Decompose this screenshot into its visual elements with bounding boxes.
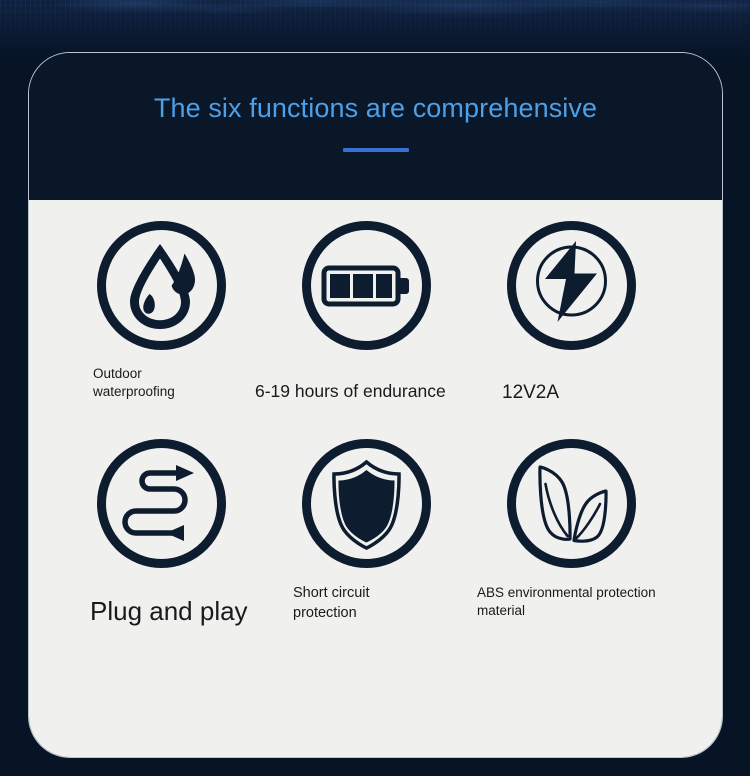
feature-label: 12V2A [502,380,672,406]
feature-row-2: Plug and play S [29,436,722,651]
feature-label: 6-19 hours of endurance [255,380,515,404]
background-texture [0,0,750,60]
feature-label-line2: waterproofing [93,383,263,401]
feature-label: Outdoor waterproofing [93,365,263,401]
feature-item-abs-material[interactable]: ABS environmental protection material [479,436,679,651]
leaves-icon [504,436,639,571]
feature-label-line1: 6-19 hours of endurance [255,380,515,404]
feature-item-outdoor-waterproofing[interactable]: Outdoor waterproofing [79,218,279,433]
lightning-bolt-icon [504,218,639,353]
feature-item-voltage-current[interactable]: 12V2A [479,218,679,433]
feature-label: ABS environmental protection material [477,584,702,620]
page-root: The six functions are comprehensive [0,0,750,776]
feature-item-endurance[interactable]: 6-19 hours of endurance [281,218,481,433]
feature-label: Short circuit protection [293,584,443,623]
feature-label-line2: material [477,602,702,620]
card-body: Outdoor waterproofing [29,200,722,758]
card-header: The six functions are comprehensive [29,53,722,200]
feature-label-line1: 12V2A [502,380,672,406]
page-title: The six functions are comprehensive [154,95,597,122]
feature-item-short-circuit-protection[interactable]: Short circuit protection [281,436,481,651]
battery-icon [299,218,434,353]
title-underline-accent [343,148,409,152]
shield-icon [299,436,434,571]
feature-label-line1: Outdoor [93,365,263,383]
water-drop-icon [94,218,229,353]
feature-label-line1: Short circuit [293,584,443,604]
feature-item-plug-and-play[interactable]: Plug and play [79,436,279,651]
feature-label-line2: protection [293,604,443,624]
feature-label-line1: Plug and play [90,594,310,629]
feature-label: Plug and play [90,594,310,629]
feature-label-line1: ABS environmental protection [477,584,702,602]
feature-card: The six functions are comprehensive [28,52,723,758]
zigzag-arrows-icon [94,436,229,571]
feature-row-1: Outdoor waterproofing [29,218,722,433]
